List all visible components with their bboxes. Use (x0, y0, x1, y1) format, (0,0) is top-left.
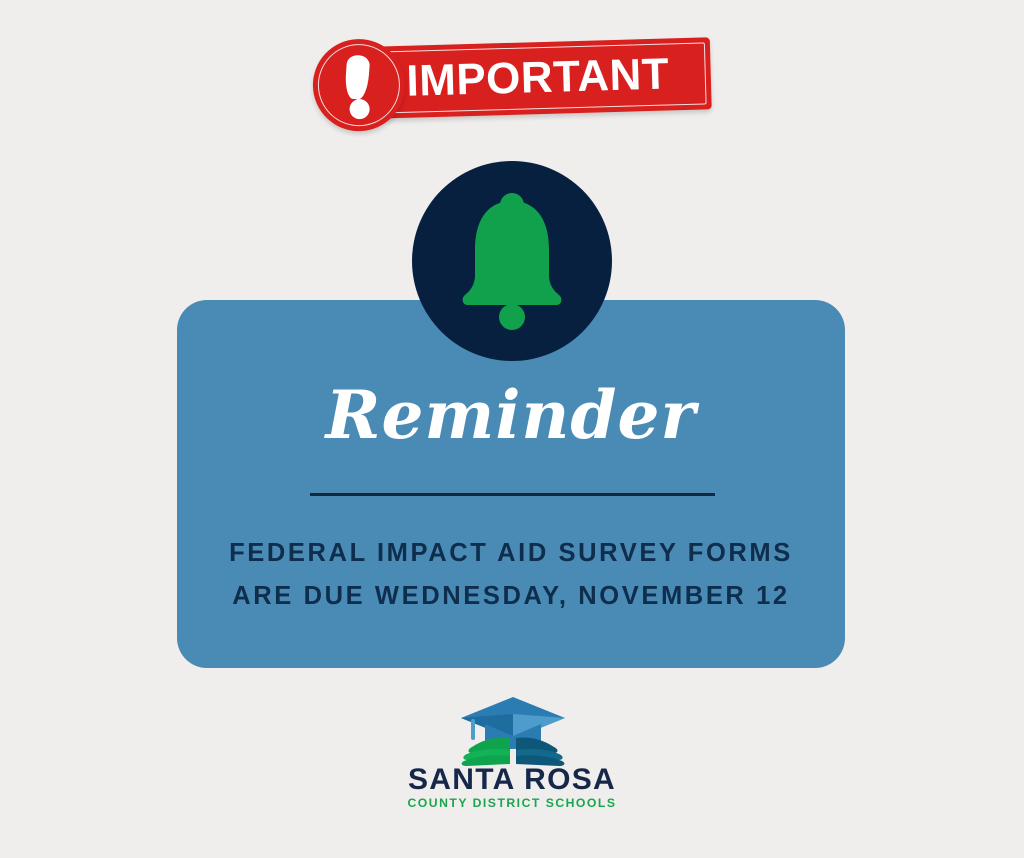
logo-name: SANTA ROSA (398, 764, 626, 796)
title-divider (310, 493, 715, 496)
bell-icon (459, 193, 565, 331)
important-banner-label: IMPORTANT (372, 44, 704, 113)
district-logo: SANTA ROSA COUNTY DISTRICT SCHOOLS (398, 694, 626, 812)
logo-tagline: COUNTY DISTRICT SCHOOLS (398, 796, 626, 810)
bell-badge (412, 161, 612, 361)
reminder-title: Reminder (177, 382, 845, 448)
reminder-body-text: FEDERAL IMPACT AID SURVEY FORMS ARE DUE … (227, 532, 795, 618)
graduation-cap-and-book-icon (452, 694, 574, 766)
important-banner: IMPORTANT (302, 27, 713, 144)
flyer-canvas: IMPORTANT Reminder FEDERAL IMPACT AID SU… (0, 0, 1024, 858)
